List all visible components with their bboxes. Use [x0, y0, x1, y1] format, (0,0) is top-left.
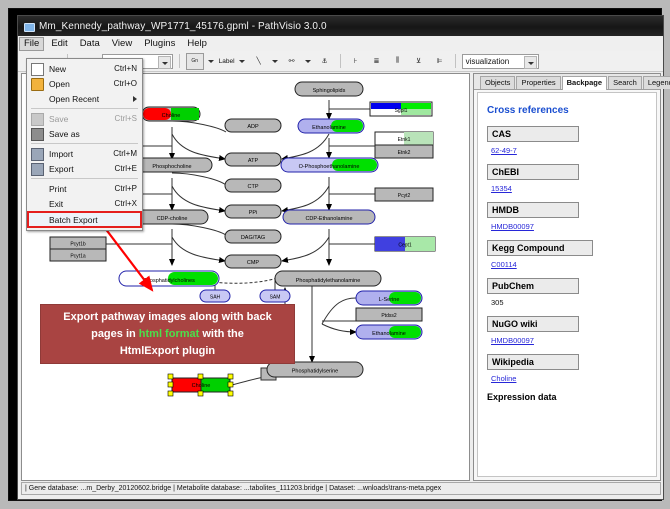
xref-hmdb-value[interactable]: HMDB00097 [491, 222, 656, 231]
node-ppi[interactable]: PPi [225, 205, 281, 218]
svg-text:ATP: ATP [248, 158, 259, 164]
svg-text:SAH: SAH [210, 295, 221, 301]
menu-item-save-label: Save [49, 114, 68, 124]
svg-text:Etnk2: Etnk2 [398, 150, 411, 156]
menu-separator-1 [31, 108, 138, 109]
svg-text:Choline: Choline [162, 113, 181, 119]
node-l-serine[interactable]: L-Serine [356, 291, 422, 305]
save-disk-icon [31, 113, 44, 126]
menu-item-print-label: Print [49, 184, 66, 194]
svg-text:Etnk1: Etnk1 [398, 137, 411, 143]
node-cdp-ethanolamine[interactable]: CDP-Ethanolamine [283, 210, 375, 224]
save-as-icon [31, 128, 44, 141]
xref-nugo-value[interactable]: HMDB00097 [491, 336, 656, 345]
node-etnk2[interactable]: Etnk2 [375, 145, 433, 158]
svg-text:Sgpl1: Sgpl1 [395, 108, 408, 114]
anchor-icon[interactable]: ⚓ [316, 53, 334, 70]
visualization-combobox[interactable]: visualization [462, 54, 539, 69]
visualization-chevron-down-icon[interactable] [524, 56, 537, 69]
svg-text:CDP-choline: CDP-choline [157, 216, 188, 222]
datanode-icon[interactable]: Gn [186, 53, 204, 70]
menu-item-import-label: Import [49, 149, 73, 159]
menu-item-print-accel: Ctrl+P [115, 184, 137, 193]
group-icon[interactable]: ⊫ [431, 53, 449, 70]
menu-item-save-as[interactable]: Save as [27, 126, 142, 141]
svg-text:DAG/TAG: DAG/TAG [241, 235, 265, 241]
annotation-line-3: HtmlExport plugin [120, 345, 215, 357]
annotation-line-2-a: pages in [91, 328, 139, 340]
node-ethanolamine-bottom[interactable]: Ethanolamine [356, 325, 422, 339]
svg-text:Ptdss2: Ptdss2 [381, 313, 397, 319]
svg-text:Phosphatidylethanolamine: Phosphatidylethanolamine [296, 278, 361, 284]
node-cmp[interactable]: CMP [225, 255, 281, 268]
label-tool-label: Label [219, 58, 235, 65]
xref-nugo-label: NuGO wiki [487, 316, 579, 332]
node-pcyt1b[interactable]: Pcyt1b [50, 237, 106, 249]
annotation-banner: Export pathway images along with back pa… [40, 304, 295, 364]
menu-item-print[interactable]: Print Ctrl+P [27, 181, 142, 196]
application-window-frame: Mm_Kennedy_pathway_WP1771_45176.gpml - P… [8, 8, 662, 501]
svg-text:Sphingolipids: Sphingolipids [313, 88, 346, 94]
interaction-dropdown-icon[interactable] [304, 54, 313, 68]
node-cdp-choline[interactable]: CDP-choline [136, 210, 208, 224]
menu-item-batch-export-label: Batch Export [49, 215, 98, 225]
node-o-phosphoethanolamine[interactable]: O-Phosphoethanolamine [281, 158, 378, 172]
svg-text:L-Serine: L-Serine [379, 297, 400, 303]
datanode-dropdown-icon[interactable] [207, 54, 216, 68]
menu-item-batch-export[interactable]: Batch Export [27, 211, 142, 228]
menu-item-save-as-label: Save as [49, 129, 80, 139]
annotation-line-1: Export pathway images along with back [63, 311, 271, 323]
node-cept1[interactable]: Cept1 [375, 237, 435, 251]
node-sphingolipids[interactable]: Sphingolipids [295, 82, 363, 96]
menu-plugins[interactable]: Plugins [139, 37, 180, 51]
menu-item-exit-label: Exit [49, 199, 63, 209]
menu-item-open-recent[interactable]: Open Recent [27, 91, 142, 106]
node-sah[interactable]: SAH [200, 290, 230, 302]
svg-text:Phosphocholine: Phosphocholine [152, 164, 191, 170]
tab-legend[interactable]: Legend [643, 76, 670, 89]
node-ctp[interactable]: CTP [225, 179, 281, 192]
node-ethanolamine-top[interactable]: Ethanolamine [298, 119, 364, 133]
xref-wikipedia-label: Wikipedia [487, 354, 579, 370]
annotation-line-2-b: with the [199, 328, 244, 340]
svg-text:CMP: CMP [247, 260, 260, 266]
menu-help[interactable]: Help [182, 37, 212, 51]
menu-item-new-accel: Ctrl+N [114, 64, 137, 73]
visualization-value: visualization [466, 57, 510, 66]
expression-data-heading: Expression data [487, 392, 656, 402]
interaction-icon[interactable]: ⚯ [283, 53, 301, 70]
menu-item-open-recent-label: Open Recent [49, 94, 99, 104]
svg-text:Pcyt1a: Pcyt1a [70, 254, 86, 260]
xref-pubchem-label: PubChem [487, 278, 579, 294]
node-etnk1[interactable]: Etnk1 [375, 132, 433, 145]
menu-edit[interactable]: Edit [46, 37, 72, 51]
tab-objects[interactable]: Objects [480, 76, 515, 89]
svg-text:Phosphatidylserine: Phosphatidylserine [292, 369, 338, 375]
annotation-line-2-highlight: html format [139, 328, 200, 340]
menu-item-exit-accel: Ctrl+X [115, 199, 137, 208]
svg-text:O-Phosphoethanolamine: O-Phosphoethanolamine [299, 164, 360, 170]
new-document-icon [31, 63, 44, 76]
menu-item-save: Save Ctrl+S [27, 111, 142, 126]
menu-view[interactable]: View [107, 37, 137, 51]
export-icon [31, 163, 44, 176]
menu-data[interactable]: Data [75, 37, 105, 51]
svg-text:ADP: ADP [247, 124, 259, 130]
menu-item-open-accel: Ctrl+O [114, 79, 137, 88]
import-icon [31, 148, 44, 161]
tab-backpage[interactable]: Backpage [562, 76, 607, 90]
xref-cas-value[interactable]: 62-49-7 [491, 146, 656, 155]
align-distribute-icon[interactable]: ⫼ [389, 53, 407, 70]
menu-separator-2 [31, 143, 138, 144]
xref-kegg: Kegg Compound C00114 [487, 240, 656, 269]
open-folder-icon [31, 78, 44, 91]
svg-text:PPi: PPi [249, 210, 258, 216]
line-icon[interactable]: ╲ [250, 53, 268, 70]
file-menu-popup[interactable]: New Ctrl+N Open Ctrl+O Open Recent Save … [26, 58, 143, 231]
xref-wikipedia: Wikipedia Choline [487, 354, 656, 383]
xref-chebi-value[interactable]: 15354 [491, 184, 656, 193]
toolbar-separator-3 [340, 54, 341, 68]
cross-references-heading: Cross references [487, 105, 656, 116]
svg-text:CDP-Ethanolamine: CDP-Ethanolamine [305, 216, 352, 222]
toolbar-separator-4 [455, 54, 456, 68]
xref-kegg-value[interactable]: C00114 [491, 260, 656, 269]
side-panel: Objects Properties Backpage Search Legen… [473, 73, 661, 481]
node-choline[interactable]: Choline [142, 107, 200, 121]
xref-chebi: ChEBI 15354 [487, 164, 656, 193]
xref-cas: CAS 62-49-7 [487, 126, 656, 155]
side-panel-tabs: Objects Properties Backpage Search Legen… [474, 74, 660, 90]
menu-item-export-label: Export [49, 164, 74, 174]
node-phosphatidylethanolamine[interactable]: Phosphatidylethanolamine [275, 271, 381, 286]
title-bar: Mm_Kennedy_pathway_WP1771_45176.gpml - P… [18, 16, 663, 37]
node-dag-tag[interactable]: DAG/TAG [225, 230, 281, 243]
node-phosphatidylcholines[interactable]: Phosphatidylcholines [119, 271, 219, 286]
menu-separator-3 [31, 178, 138, 179]
node-pcyt2[interactable]: Pcyt2 [375, 188, 433, 201]
align-center-icon[interactable]: ≣ [368, 53, 386, 70]
menu-item-open-label: Open [49, 79, 70, 89]
xref-pubchem: PubChem 305 [487, 278, 656, 307]
node-adp[interactable]: ADP [225, 119, 281, 132]
chevron-down-icon[interactable] [158, 56, 171, 69]
svg-text:Ethanolamine: Ethanolamine [372, 331, 406, 337]
svg-text:Phosphatidylcholines: Phosphatidylcholines [143, 278, 195, 284]
menu-item-import-accel: Ctrl+M [113, 149, 137, 158]
menu-item-exit[interactable]: Exit Ctrl+X [27, 196, 142, 211]
menu-item-new[interactable]: New Ctrl+N [27, 61, 142, 76]
node-ptdss2[interactable]: Ptdss2 [356, 308, 422, 321]
backpage-content: Cross references CAS 62-49-7 ChEBI 15354… [477, 92, 657, 477]
node-phosphocholine[interactable]: Phosphocholine [132, 158, 212, 172]
svg-text:Pcyt2: Pcyt2 [398, 193, 411, 199]
menu-file[interactable]: File [19, 37, 44, 51]
svg-text:Choline: Choline [192, 383, 211, 389]
menu-bar: File Edit Data View Plugins Help [18, 36, 663, 52]
window-title: Mm_Kennedy_pathway_WP1771_45176.gpml - P… [39, 21, 327, 32]
svg-text:Ethanolamine: Ethanolamine [312, 125, 346, 131]
node-sam[interactable]: SAM [260, 290, 290, 302]
status-bar: | Gene database: ...m_Derby_20120602.bri… [21, 482, 661, 495]
node-choline-selected[interactable]: Choline [168, 374, 233, 396]
xref-cas-label: CAS [487, 126, 579, 142]
node-sgpl1[interactable]: Sgpl1 [370, 102, 432, 116]
menu-item-open[interactable]: Open Ctrl+O [27, 76, 142, 91]
svg-text:SAM: SAM [270, 295, 281, 301]
xref-nugo: NuGO wiki HMDB00097 [487, 316, 656, 345]
xref-pubchem-value: 305 [491, 298, 656, 307]
menu-item-new-label: New [49, 64, 66, 74]
line-dropdown-icon[interactable] [271, 54, 280, 68]
node-atp[interactable]: ATP [225, 153, 281, 166]
toolbar-separator-2 [179, 54, 180, 68]
node-phosphatidylserine[interactable]: Phosphatidylserine [267, 362, 363, 377]
label-dropdown-icon[interactable] [238, 54, 247, 68]
xref-chebi-label: ChEBI [487, 164, 579, 180]
stack-icon[interactable]: ⊻ [410, 53, 428, 70]
pathvisio-window: Mm_Kennedy_pathway_WP1771_45176.gpml - P… [17, 15, 664, 500]
tab-properties[interactable]: Properties [516, 76, 560, 89]
node-pcyt1a[interactable]: Pcyt1a [50, 249, 106, 261]
tab-search[interactable]: Search [608, 76, 642, 89]
svg-text:CTP: CTP [248, 184, 259, 190]
menu-item-save-accel: Ctrl+S [115, 114, 137, 123]
xref-hmdb: HMDB HMDB00097 [487, 202, 656, 231]
menu-item-import[interactable]: Import Ctrl+M [27, 146, 142, 161]
xref-wikipedia-value[interactable]: Choline [491, 374, 656, 383]
xref-hmdb-label: HMDB [487, 202, 579, 218]
align-left-icon[interactable]: ⊦ [347, 53, 365, 70]
svg-text:Pcyt1b: Pcyt1b [70, 242, 86, 248]
xref-kegg-label: Kegg Compound [487, 240, 593, 256]
svg-text:Cept1: Cept1 [398, 243, 412, 249]
menu-item-export[interactable]: Export Ctrl+E [27, 161, 142, 176]
pathvisio-icon [23, 21, 34, 32]
menu-item-export-accel: Ctrl+E [115, 164, 137, 173]
